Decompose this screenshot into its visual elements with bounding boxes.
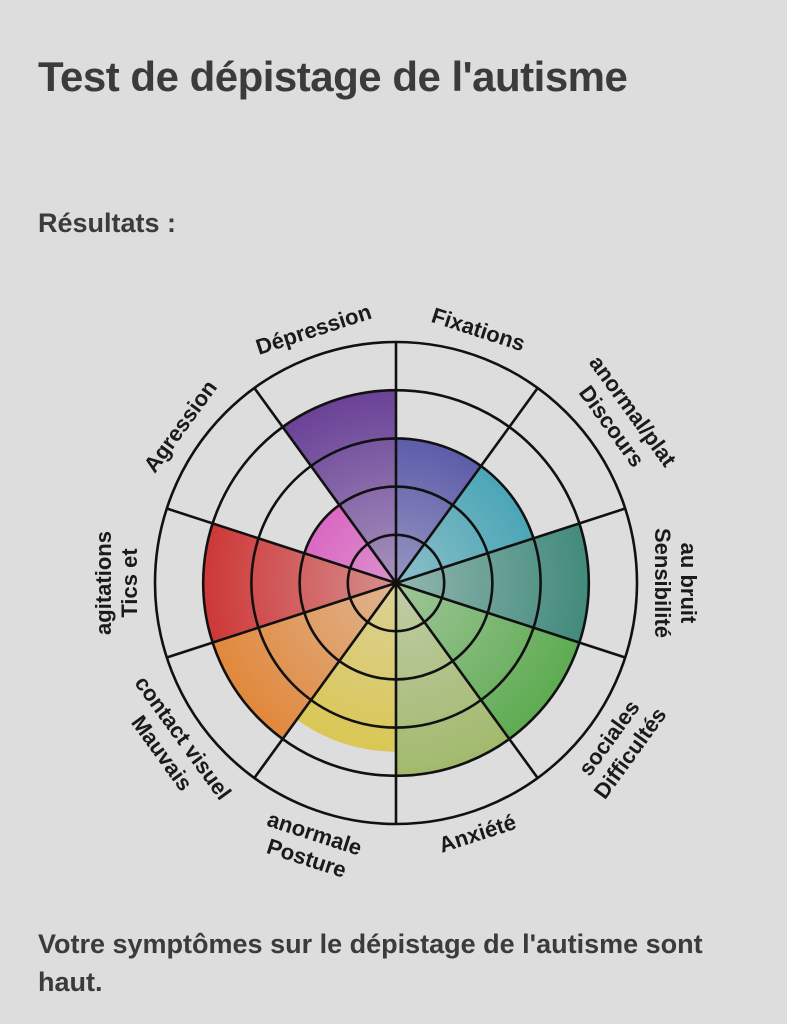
results-label: Résultats : — [38, 208, 176, 239]
axis-label-sensibilit-au-bruit: au bruit — [676, 543, 701, 624]
page-title: Test de dépistage de l'autisme — [38, 50, 638, 104]
axis-label-fixations: Fixations — [429, 303, 529, 357]
footer-note: Votre symptômes sur le dépistage de l'au… — [38, 925, 728, 1002]
radial-symptom-chart: FixationsDiscoursanormal/platSensibilité… — [0, 280, 787, 890]
axis-label-anxi-t: Anxiété — [436, 809, 519, 857]
axis-label-sensibilit-au-bruit: Sensibilité — [650, 528, 675, 638]
radial-chart-svg: FixationsDiscoursanormal/platSensibilité… — [0, 280, 787, 890]
axis-label-agression: Agression — [139, 375, 222, 477]
axis-label-tics-et-agitations: agitations — [91, 531, 116, 635]
axis-label-tics-et-agitations: Tics et — [117, 548, 142, 618]
autism-screening-result-page: Test de dépistage de l'autisme Résultats… — [0, 0, 787, 1024]
axis-label-d-pression: Dépression — [253, 299, 375, 360]
